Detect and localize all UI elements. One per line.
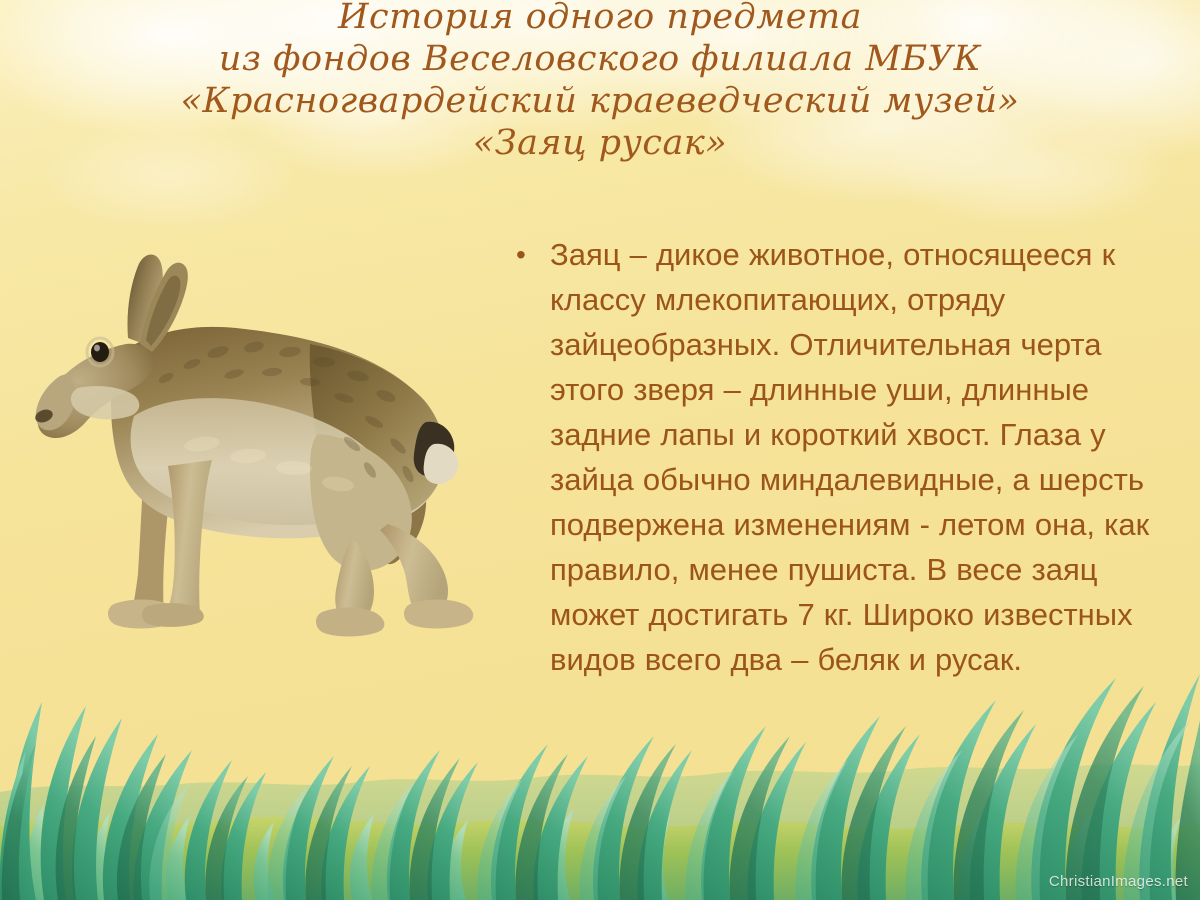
hare-photo — [22, 248, 492, 643]
slide-title: История одного предмета из фондов Весело… — [0, 0, 1200, 164]
watermark-text: ChristianImages.net — [1049, 873, 1188, 890]
body-paragraph-block: • Заяц – дикое животное, относящееся к к… — [508, 232, 1168, 682]
title-line-2: из фондов Веселовского филиала МБУК — [0, 38, 1200, 80]
hare-body-group — [33, 254, 473, 636]
title-line-3: «Красногвардейский краеведческий музей» — [0, 80, 1200, 122]
presentation-slide: История одного предмета из фондов Весело… — [0, 0, 1200, 900]
body-paragraph-text: Заяц – дикое животное, относящееся к кла… — [550, 232, 1168, 682]
title-line-1: История одного предмета — [0, 0, 1200, 38]
bullet-point-marker: • — [508, 232, 550, 277]
title-line-4: «Заяц русак» — [0, 122, 1200, 164]
